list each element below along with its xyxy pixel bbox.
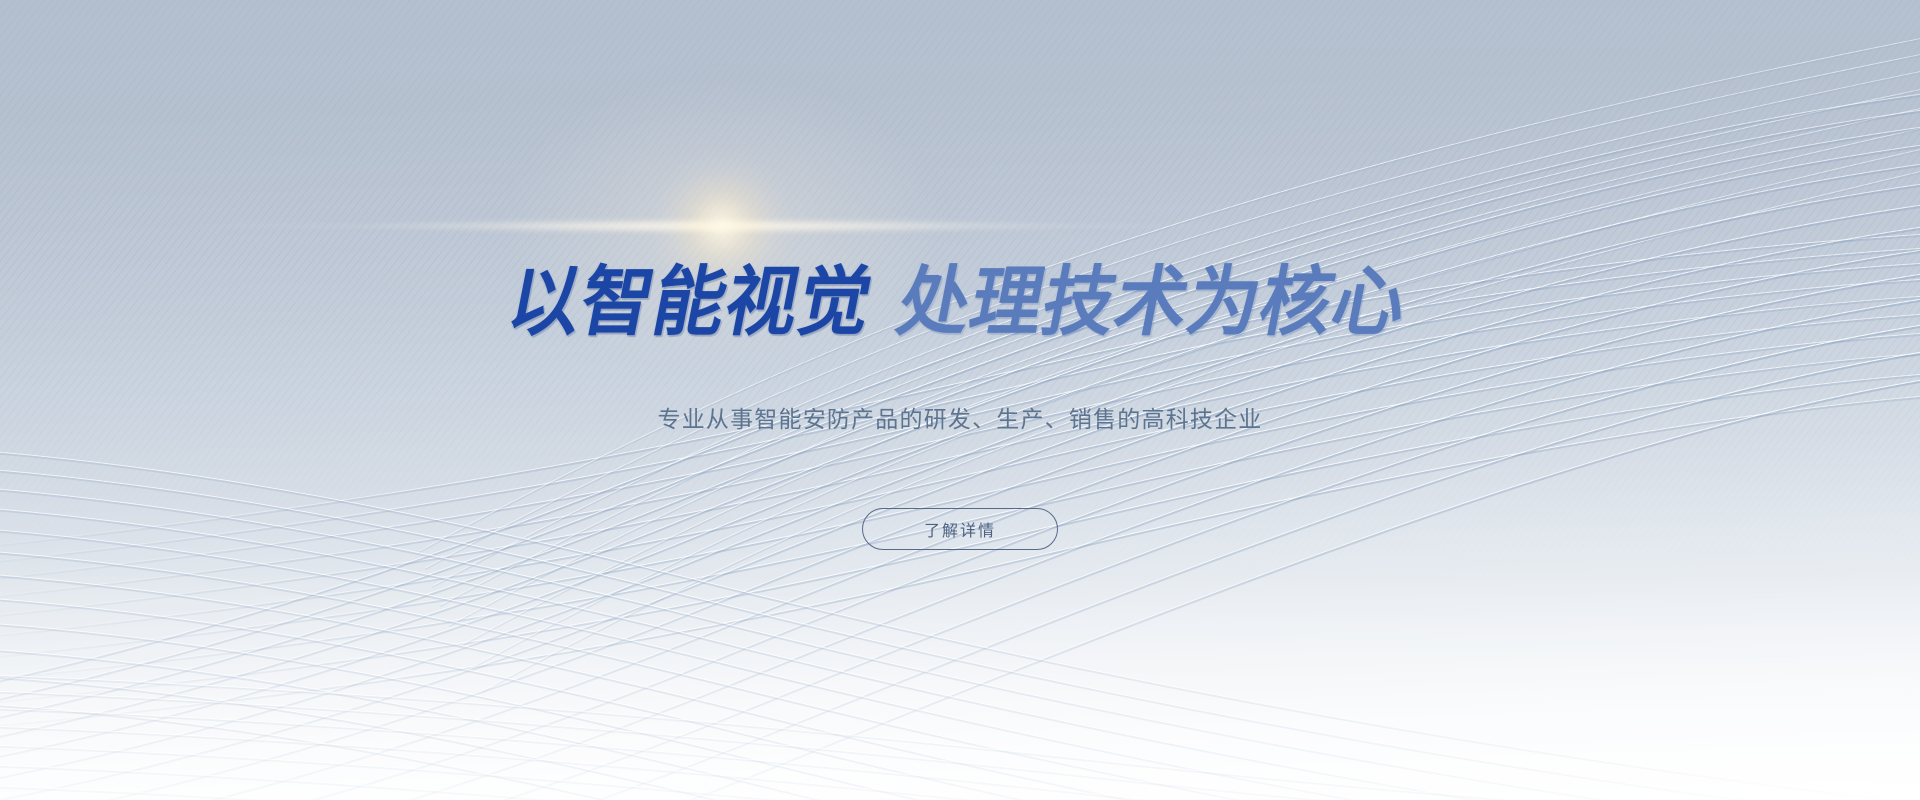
headline-segment-secondary: 处理技术为核心 [892,264,1413,340]
hero-subtitle: 专业从事智能安防产品的研发、生产、销售的高科技企业 [658,406,1263,436]
hero-content: 以智能视觉处理技术为核心 专业从事智能安防产品的研发、生产、销售的高科技企业 了… [0,0,1920,800]
hero-banner: 以智能视觉处理技术为核心 专业从事智能安防产品的研发、生产、销售的高科技企业 了… [0,0,1920,800]
headline-segment-primary: 以智能视觉 [502,264,879,340]
learn-more-button[interactable]: 了解详情 [862,508,1058,550]
page-title: 以智能视觉处理技术为核心 [498,264,1422,340]
